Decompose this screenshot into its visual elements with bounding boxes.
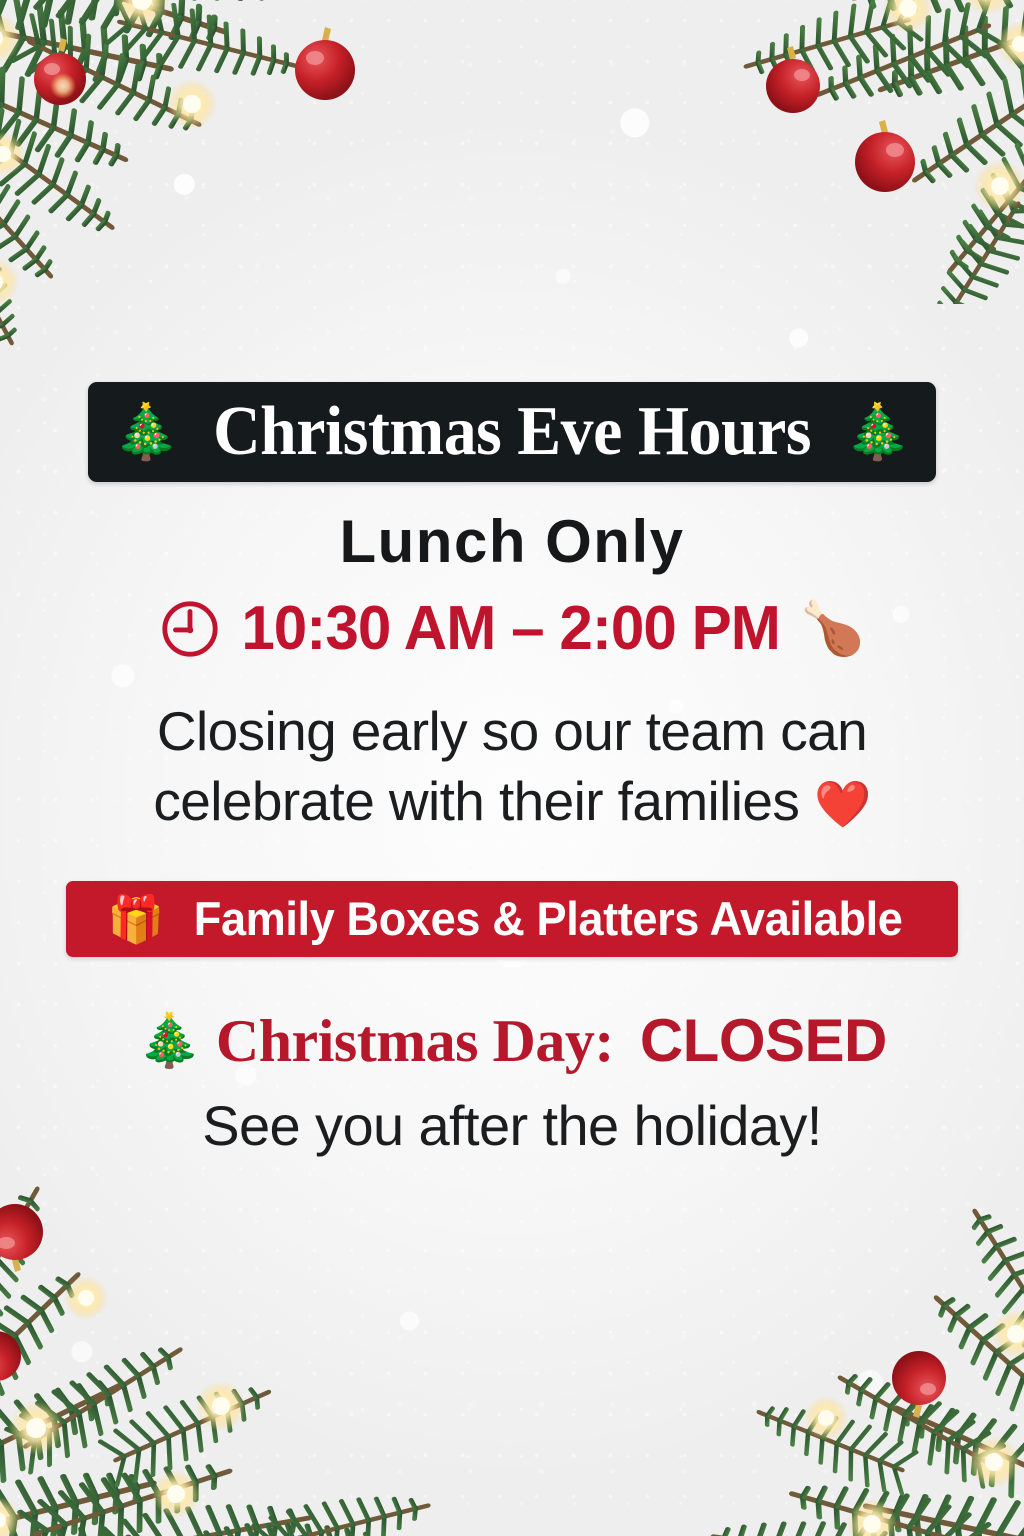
christmas-tree-icon-right: 🎄: [844, 405, 911, 459]
closed-status-badge: CLOSED: [640, 1011, 887, 1071]
gift-icon: 🎁: [107, 896, 164, 942]
clock-icon: [159, 598, 221, 660]
christmas-tree-icon-left: 🎄: [113, 405, 180, 459]
hours-text: 10:30 AM – 2:00 PM: [241, 598, 780, 660]
farewell-text: See you after the holiday!: [202, 1095, 822, 1157]
christmas-day-closed-notice: 🎄 Christmas Day: CLOSED: [137, 1011, 887, 1071]
hours-row: 10:30 AM – 2:00 PM 🍗: [159, 598, 865, 660]
closing-message-line-2-wrapper: celebrate with their families ❤️: [97, 766, 927, 836]
subtitle-lunch-only: Lunch Only: [340, 512, 685, 572]
closing-message-line-2: celebrate with their families: [153, 770, 799, 832]
promo-banner: 🎁 Family Boxes & Platters Available: [66, 881, 958, 957]
closing-message: Closing early so our team can celebrate …: [97, 696, 927, 837]
red-heart-icon: ❤️: [814, 778, 871, 830]
title-banner: 🎄 Christmas Eve Hours 🎄: [88, 382, 936, 482]
christmas-day-label: Christmas Day:: [216, 1011, 614, 1071]
page-title: Christmas Eve Hours: [213, 397, 811, 467]
poster-content: 🎄 Christmas Eve Hours 🎄 Lunch Only 10:30…: [0, 0, 1024, 1536]
christmas-tree-icon-closed: 🎄: [137, 1015, 202, 1067]
christmas-hours-poster: 🎄 Christmas Eve Hours 🎄 Lunch Only 10:30…: [0, 0, 1024, 1536]
promo-banner-text: Family Boxes & Platters Available: [193, 891, 902, 946]
poultry-leg-icon: 🍗: [800, 603, 865, 655]
closing-message-line-1: Closing early so our team can: [97, 696, 927, 766]
